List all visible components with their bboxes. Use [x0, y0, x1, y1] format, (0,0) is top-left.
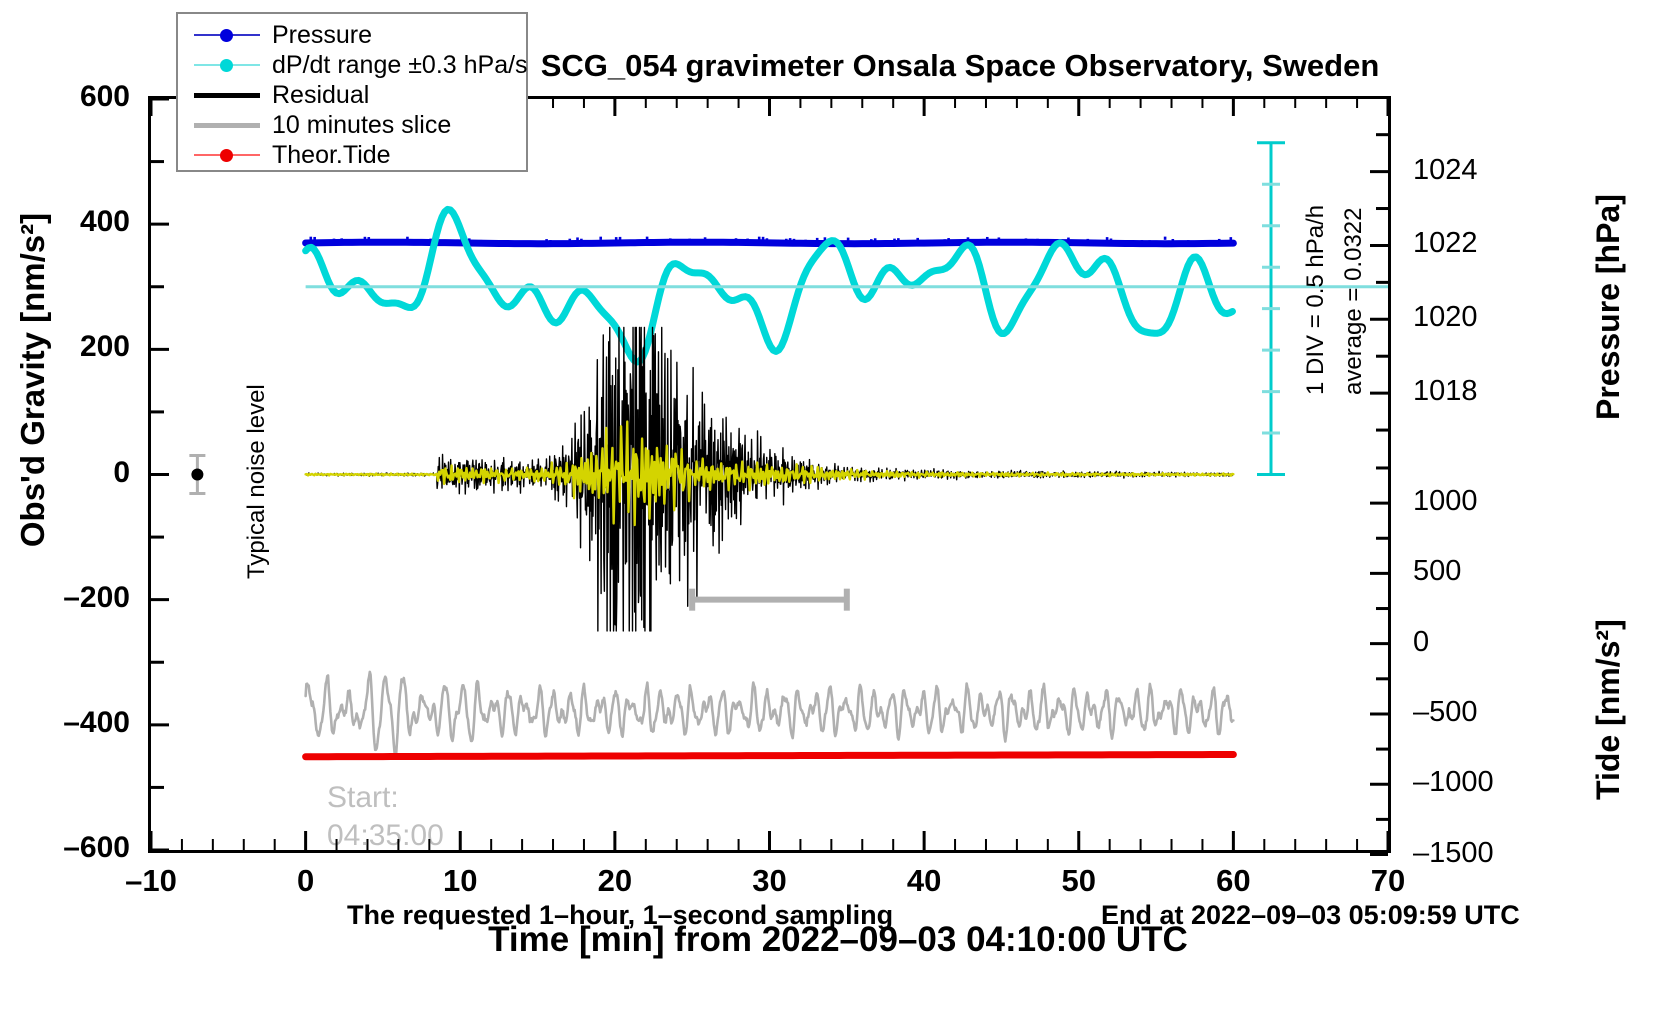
pressure-sample-marker: [630, 240, 633, 243]
legend-swatch-tide: [188, 142, 266, 168]
y-tick-left-600: 600: [20, 80, 130, 114]
pressure-sample-marker: [1164, 237, 1167, 240]
pressure-sample-marker: [646, 237, 649, 240]
pressure-sample-marker: [804, 240, 807, 243]
legend-label-slice: 10 minutes slice: [266, 111, 451, 140]
pressure-sample-marker: [878, 241, 881, 244]
pressure-sample-marker: [762, 237, 765, 240]
x-tick-40: 40: [874, 863, 974, 899]
x-tick-20: 20: [565, 863, 665, 899]
series-theor-tide: [306, 754, 1234, 756]
start-time-label: Start:04:35:00: [327, 779, 444, 855]
pressure-sample-marker: [967, 237, 970, 240]
pressure-sample-marker: [306, 240, 309, 243]
pressure-sample-marker: [816, 238, 819, 241]
pressure-sample-marker: [1152, 241, 1155, 244]
pressure-sample-marker: [1168, 240, 1171, 243]
y-tick-left-200: 200: [20, 330, 130, 364]
pressure-sample-marker: [491, 240, 494, 243]
legend-item-dpdt[interactable]: dP/dt range ±0.3 hPa/s: [188, 50, 516, 80]
legend-item-tide[interactable]: Theor.Tide: [188, 140, 516, 170]
pressure-sample-marker: [735, 238, 738, 241]
pressure-sample-marker: [932, 241, 935, 244]
pressure-sample-marker: [789, 238, 792, 241]
data-series-canvas: [151, 99, 1388, 850]
pressure-sample-marker: [766, 238, 769, 241]
gravimeter-chart-page: SCG_054 gravimeter Onsala Space Observat…: [0, 0, 1676, 1020]
pressure-sample-marker: [808, 241, 811, 244]
pressure-sample-marker: [870, 239, 873, 242]
pressure-sample-marker: [495, 240, 498, 243]
pressure-sample-marker: [309, 237, 312, 240]
y-axis-tide-title: Tide [nm/s²]: [1590, 619, 1627, 800]
pressure-sample-marker: [1222, 240, 1225, 243]
sampling-note: The requested 1–hour, 1–second sampling: [347, 900, 893, 931]
x-tick--10: –10: [101, 863, 201, 899]
pressure-sample-marker: [425, 240, 428, 243]
x-tick-10: 10: [410, 863, 510, 899]
legend-swatch-dpdt: [188, 52, 266, 78]
dpdt-average-label: average = 0.0322: [1340, 208, 1368, 396]
end-time-note: End at 2022–09–03 05:09:59 UTC: [1101, 900, 1520, 931]
y-tick-left--400: –400: [20, 706, 130, 740]
legend-item-slice[interactable]: 10 minutes slice: [188, 110, 516, 140]
page-title: SCG_054 gravimeter Onsala Space Observat…: [500, 48, 1420, 84]
pressure-sample-marker: [596, 241, 599, 244]
y-tick-pressure-1024: 1024: [1413, 154, 1553, 187]
slice-span-bar: [692, 589, 847, 611]
y-tick-left-0: 0: [20, 456, 130, 490]
pressure-sample-marker: [669, 238, 672, 241]
pressure-sample-marker: [321, 242, 324, 245]
pressure-sample-marker: [480, 240, 483, 243]
pressure-sample-marker: [383, 240, 386, 243]
y-tick-tide--500: –500: [1413, 696, 1553, 729]
pressure-sample-marker: [553, 241, 556, 244]
pressure-sample-marker: [1172, 239, 1175, 242]
noise-level-marker: [189, 456, 205, 494]
pressure-sample-marker: [943, 239, 946, 242]
pressure-sample-marker: [599, 237, 602, 240]
pressure-sample-marker: [313, 237, 316, 240]
legend-label-residual: Residual: [266, 81, 369, 110]
pressure-sample-marker: [1102, 241, 1105, 244]
y-tick-tide--1000: –1000: [1413, 766, 1553, 799]
pressure-sample-marker: [1210, 241, 1213, 244]
pressure-sample-marker: [1036, 239, 1039, 242]
pressure-sample-marker: [1025, 238, 1028, 241]
pressure-sample-marker: [402, 241, 405, 244]
pressure-sample-marker: [549, 240, 552, 243]
pressure-sample-marker: [1230, 237, 1233, 240]
pressure-sample-marker: [580, 239, 583, 242]
y-tick-left--600: –600: [20, 831, 130, 865]
pressure-sample-marker: [340, 238, 343, 241]
pressure-sample-marker: [951, 241, 954, 244]
pressure-sample-marker: [893, 239, 896, 242]
pressure-sample-marker: [592, 241, 595, 244]
x-tick-30: 30: [720, 863, 820, 899]
x-tick-0: 0: [256, 863, 356, 899]
pressure-sample-marker: [619, 237, 622, 240]
pressure-sample-marker: [793, 239, 796, 242]
pressure-sample-marker: [367, 237, 370, 240]
legend-label-tide: Theor.Tide: [266, 141, 391, 170]
pressure-sample-marker: [1110, 239, 1113, 242]
legend-label-dpdt: dP/dt range ±0.3 hPa/s: [266, 51, 528, 80]
pressure-sample-marker: [333, 239, 336, 242]
start-label-line2: 04:35:00: [327, 819, 444, 852]
pressure-sample-marker: [758, 237, 761, 240]
pressure-sample-marker: [360, 241, 363, 244]
pressure-sample-marker: [576, 237, 579, 240]
y-axis-pressure-title: Pressure [hPa]: [1590, 194, 1627, 420]
pressure-sample-marker: [1141, 240, 1144, 243]
legend-swatch-pressure: [188, 22, 266, 48]
pressure-sample-marker: [650, 241, 653, 244]
chart-legend: Pressure dP/dt range ±0.3 hPa/s Residual…: [176, 12, 528, 172]
y-tick-tide-500: 500: [1413, 555, 1553, 588]
pressure-sample-marker: [568, 239, 571, 242]
series-filtered-residual: [306, 422, 1234, 525]
pressure-sample-marker: [920, 241, 923, 244]
pressure-sample-marker: [986, 237, 989, 240]
pressure-sample-marker: [897, 238, 900, 241]
y-tick-tide-1000: 1000: [1413, 485, 1553, 518]
pressure-sample-marker: [1187, 240, 1190, 243]
pressure-sample-marker: [1001, 241, 1004, 244]
pressure-sample-marker: [545, 239, 548, 242]
y-tick-tide-0: 0: [1413, 626, 1553, 659]
pressure-sample-marker: [688, 239, 691, 242]
pressure-sample-marker: [398, 241, 401, 244]
pressure-sample-marker: [1067, 238, 1070, 241]
pressure-sample-marker: [352, 240, 355, 243]
pressure-sample-marker: [445, 240, 448, 243]
plot-area: Typical noise level Start:04:35:00 The r…: [148, 96, 1391, 853]
pressure-sample-marker: [344, 239, 347, 242]
typical-noise-level-label: Typical noise level: [243, 384, 271, 579]
pressure-sample-marker: [874, 238, 877, 241]
legend-swatch-residual: [188, 82, 266, 108]
pressure-sample-marker: [661, 241, 664, 244]
pressure-sample-marker: [317, 240, 320, 243]
pressure-sample-marker: [847, 238, 850, 241]
legend-item-pressure[interactable]: Pressure: [188, 20, 516, 50]
legend-label-pressure: Pressure: [266, 21, 372, 50]
pressure-sample-marker: [916, 238, 919, 241]
pressure-sample-marker: [557, 241, 560, 244]
legend-swatch-slice: [188, 112, 266, 138]
pressure-sample-marker: [820, 240, 823, 243]
y-tick-pressure-1020: 1020: [1413, 301, 1553, 334]
div-scale-label: 1 DIV = 0.5 hPa/h: [1302, 205, 1330, 395]
pressure-sample-marker: [754, 241, 757, 244]
pressure-sample-marker: [947, 238, 950, 241]
y-tick-pressure-1018: 1018: [1413, 375, 1553, 408]
pressure-sample-marker: [1106, 237, 1109, 240]
pressure-sample-marker: [406, 237, 409, 240]
pressure-sample-marker: [982, 239, 985, 242]
pressure-sample-marker: [998, 237, 1001, 240]
y-tick-left--200: –200: [20, 581, 130, 615]
y-tick-pressure-1022: 1022: [1413, 227, 1553, 260]
pressure-sample-marker: [364, 237, 367, 240]
pressure-sample-marker: [715, 241, 718, 244]
x-tick-50: 50: [1029, 863, 1129, 899]
x-tick-60: 60: [1183, 863, 1283, 899]
series-10min-slice: [306, 672, 1234, 755]
pressure-sample-marker: [1005, 240, 1008, 243]
pressure-sample-marker: [456, 239, 459, 242]
pressure-sample-marker: [615, 237, 618, 240]
pressure-sample-marker: [1083, 240, 1086, 243]
pressure-sample-marker: [611, 240, 614, 243]
start-label-line1: Start:: [327, 781, 399, 814]
pressure-sample-marker: [785, 239, 788, 242]
pressure-sample-marker: [1148, 240, 1151, 243]
y-tick-left-400: 400: [20, 205, 130, 239]
pressure-sample-marker: [746, 239, 749, 242]
y-tick-tide--1500: –1500: [1413, 837, 1553, 870]
pressure-sample-marker: [704, 237, 707, 240]
legend-item-residual[interactable]: Residual: [188, 80, 516, 110]
pressure-sample-marker: [1017, 240, 1020, 243]
pressure-sample-marker: [511, 241, 514, 244]
pressure-sample-marker: [1086, 239, 1089, 242]
pressure-sample-marker: [499, 240, 502, 243]
pressure-sample-marker: [1218, 239, 1221, 242]
